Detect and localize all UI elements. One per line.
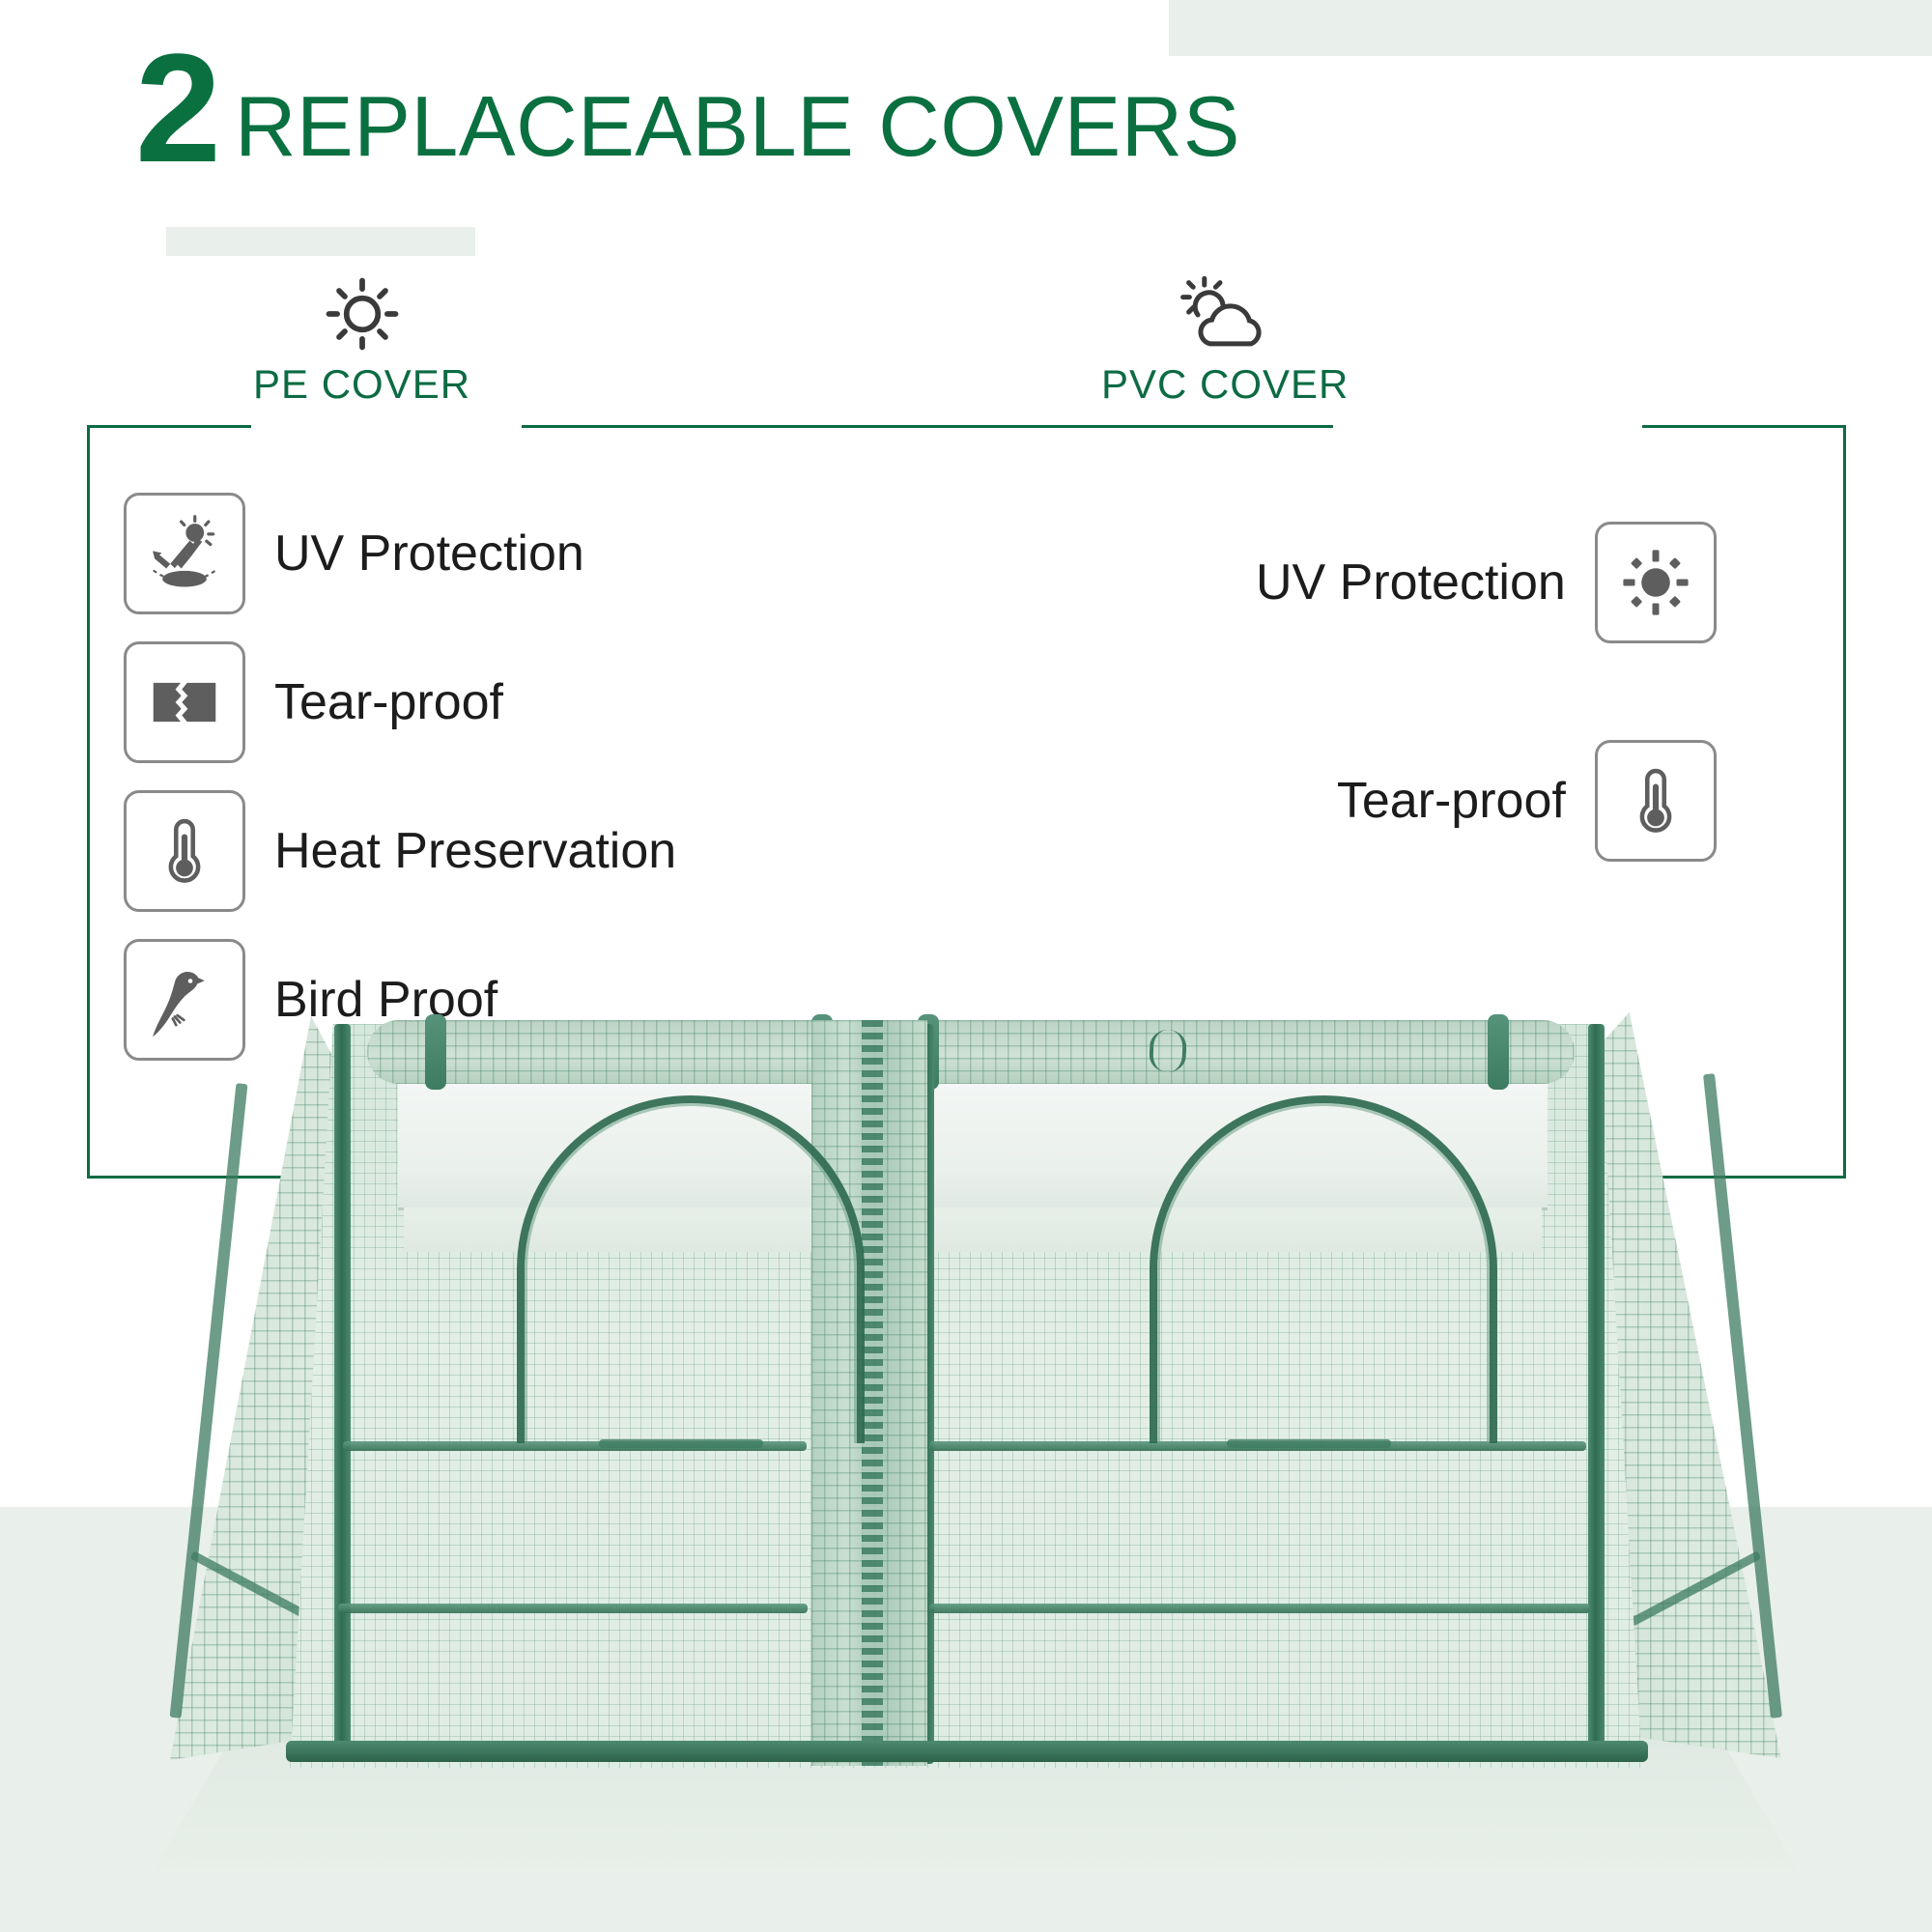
sun-outline-icon: [318, 278, 407, 350]
frame-pole-left: [334, 1024, 351, 1758]
feature-label: Tear-proof: [1337, 772, 1566, 830]
roof-flap-mesh-texture: [367, 1020, 1575, 1084]
zipper-door-right-seam: [1157, 1103, 1490, 1443]
center-zipper-strip: [862, 1020, 883, 1766]
shelf-rail-lower-right: [929, 1604, 1590, 1613]
sun-filled-rays-icon: [1595, 522, 1717, 643]
thermometer-icon: [1595, 740, 1717, 862]
uv-sun-arrows-icon: [124, 493, 245, 614]
top-right-accent-block: [1169, 0, 1932, 56]
pvc-cover-label: PVC COVER: [1101, 361, 1349, 408]
feature-label: UV Protection: [274, 525, 584, 582]
pe-cover-label: PE COVER: [253, 361, 470, 408]
roof-flap-strap-left: [425, 1014, 446, 1090]
frame-pole-right: [1588, 1024, 1605, 1758]
pe-cover-header: PE COVER: [253, 278, 470, 408]
feature-row-uv-protection-pvc: UV Protection: [1256, 522, 1717, 643]
roof-flap-tie-knot: [1149, 1029, 1187, 1072]
title-text: REPLACEABLE COVERS: [235, 84, 1240, 177]
feature-row-tear-proof-pe: Tear-proof: [124, 641, 676, 763]
door-handle-left[interactable]: [599, 1439, 763, 1448]
pe-feature-list: UV Protection Tear-proof Heat Preservati…: [124, 493, 676, 1061]
frame-top-middle-segment: [522, 425, 1333, 428]
roll-up-roof-flap: [367, 1020, 1575, 1084]
feature-label: Tear-proof: [274, 673, 503, 731]
frame-right-edge: [1843, 425, 1846, 1179]
torn-fabric-icon: [124, 641, 245, 763]
feature-label: Heat Preservation: [274, 822, 676, 880]
frame-top-left-segment: [87, 425, 251, 428]
title-number: 2: [135, 41, 217, 177]
door-handle-right[interactable]: [1227, 1439, 1391, 1448]
infographic-canvas: 2 REPLACEABLE COVERS: [0, 0, 1932, 1932]
feature-row-tear-proof-pvc: Tear-proof: [1337, 740, 1717, 862]
title-accent-block: [166, 227, 475, 256]
shelf-rail-lower-left: [338, 1604, 808, 1613]
feature-label: UV Protection: [1256, 554, 1566, 611]
sun-behind-cloud-icon: [1173, 278, 1277, 350]
bottom-hem-rail: [286, 1741, 1648, 1762]
roof-flap-strap-right: [1488, 1014, 1509, 1090]
feature-row-uv-protection-pe: UV Protection: [124, 493, 676, 614]
thermometer-icon: [124, 790, 245, 912]
pvc-cover-header: PVC COVER: [1101, 278, 1349, 408]
product-image-greenhouse: [145, 1024, 1806, 1874]
frame-top-right-segment: [1642, 425, 1846, 428]
frame-left-edge: [87, 425, 90, 1179]
page-title: 2 REPLACEABLE COVERS: [135, 41, 1240, 177]
feature-row-heat-preservation-pe: Heat Preservation: [124, 790, 676, 912]
zipper-door-left-seam: [525, 1103, 857, 1443]
pvc-feature-list: UV Protection Tear-proof: [1256, 522, 1717, 862]
